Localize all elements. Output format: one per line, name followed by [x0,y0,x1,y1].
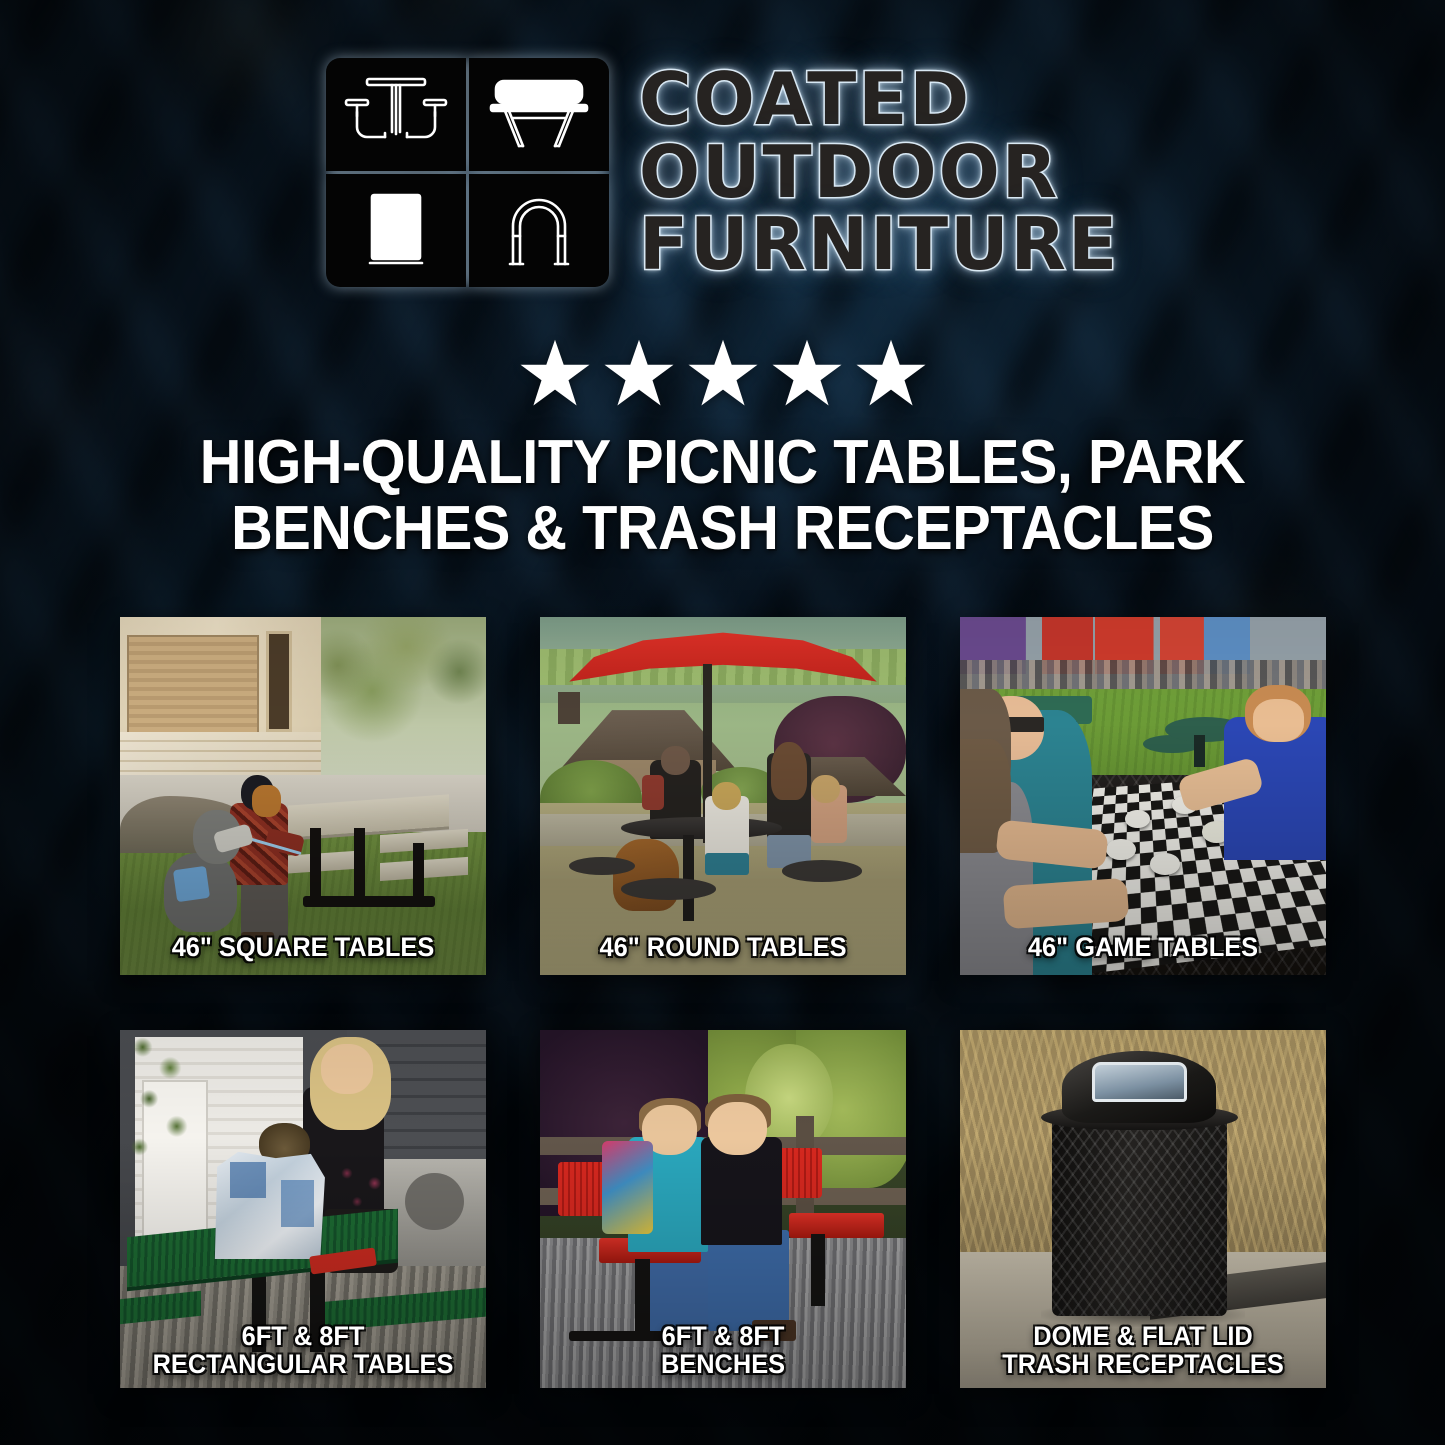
marketing-poster: COATED OUTDOOR FURNITURE HIGH-QUALITY PI… [0,0,1445,1445]
tile-caption: 46" GAME TABLES [971,933,1315,961]
product-tile-trash-receptacles[interactable]: DOME & FLAT LID TRASH RECEPTACLES [960,1030,1326,1388]
product-tile-rectangular-tables[interactable]: 6FT & 8FT RECTANGULAR TABLES [120,1030,486,1388]
brand-name-line-1: COATED [639,64,1119,135]
round-tables-photo [540,617,906,975]
caption-line-2: BENCHES [551,1350,895,1378]
tile-caption: 6FT & 8FT RECTANGULAR TABLES [131,1322,475,1378]
caption-line-1: 6FT & 8FT [551,1322,895,1350]
product-tile-square-tables[interactable]: 46" SQUARE TABLES [120,617,486,975]
caption-line-2: RECTANGULAR TABLES [131,1350,475,1378]
star-icon [519,338,591,407]
brand-logo: COATED OUTDOOR FURNITURE [0,58,1445,287]
headline-line-1: HIGH-QUALITY PICNIC TABLES, PARK [51,430,1395,496]
headline-line-2: BENCHES & TRASH RECEPTACLES [51,496,1395,562]
tile-caption: 6FT & 8FT BENCHES [551,1322,895,1378]
brand-wordmark: COATED OUTDOOR FURNITURE [639,58,1119,280]
picnic-table-front-icon [326,58,466,171]
caption-line-1: 46" ROUND TABLES [551,933,895,961]
caption-line-1: 46" SQUARE TABLES [131,933,475,961]
page-title: HIGH-QUALITY PICNIC TABLES, PARK BENCHES… [51,430,1395,563]
caption-line-1: 46" GAME TABLES [971,933,1315,961]
brand-name-line-3: FURNITURE [639,209,1119,280]
caption-line-2: TRASH RECEPTACLES [971,1350,1315,1378]
tile-caption: 46" SQUARE TABLES [131,933,475,961]
star-icon [855,338,927,407]
brand-name-line-2: OUTDOOR [639,137,1119,208]
trash-receptacle-icon [326,174,466,287]
product-category-grid: 46" SQUARE TABLES [120,617,1326,1388]
star-rating [0,338,1445,407]
bike-rack-icon [469,174,609,287]
tile-caption: DOME & FLAT LID TRASH RECEPTACLES [971,1322,1315,1378]
product-tile-round-tables[interactable]: 46" ROUND TABLES [540,617,906,975]
product-tile-benches[interactable]: 6FT & 8FT BENCHES [540,1030,906,1388]
caption-line-1: 6FT & 8FT [131,1322,475,1350]
star-icon [687,338,759,407]
game-tables-photo [960,617,1326,975]
square-tables-photo [120,617,486,975]
product-tile-game-tables[interactable]: 46" GAME TABLES [960,617,1326,975]
tile-caption: 46" ROUND TABLES [551,933,895,961]
logo-icon-grid [326,58,609,287]
star-icon [771,338,843,407]
bench-side-icon [469,58,609,171]
star-icon [603,338,675,407]
caption-line-1: DOME & FLAT LID [971,1322,1315,1350]
